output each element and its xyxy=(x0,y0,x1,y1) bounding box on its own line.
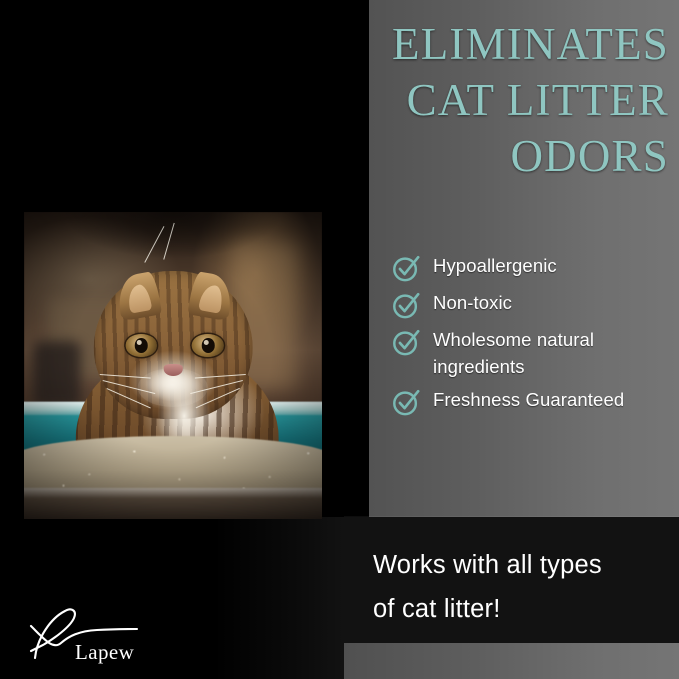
check-circle-icon xyxy=(391,387,421,417)
product-ad-image: ELIMINATES CAT LITTER ODORS Hypoallergen… xyxy=(0,0,679,679)
list-item-label: Hypoallergenic xyxy=(433,252,557,279)
headline-line-2: CAT LITTER xyxy=(249,72,669,128)
list-item: Wholesome natural ingredients xyxy=(391,326,673,380)
check-circle-icon xyxy=(391,290,421,320)
list-item-label: Wholesome natural ingredients xyxy=(433,326,673,380)
check-circle-icon xyxy=(391,253,421,283)
headline-line-1: ELIMINATES xyxy=(249,16,669,72)
list-item: Non-toxic xyxy=(391,289,673,320)
list-item-label: Freshness Guaranteed xyxy=(433,386,624,413)
kitten-photo xyxy=(24,212,322,519)
kitten-photo-stage xyxy=(24,212,322,519)
headline: ELIMINATES CAT LITTER ODORS xyxy=(249,16,669,184)
photo-vignette xyxy=(24,212,322,519)
callout-line-1: Works with all types xyxy=(373,543,663,587)
callout-text: Works with all types of cat litter! xyxy=(373,543,663,631)
headline-line-3: ODORS xyxy=(249,128,669,184)
callout-box: Works with all types of cat litter! xyxy=(344,517,679,643)
list-item: Freshness Guaranteed xyxy=(391,386,673,417)
callout-line-2: of cat litter! xyxy=(373,587,663,631)
brand-logo: Lapew xyxy=(27,604,159,666)
logo-wordmark: Lapew xyxy=(75,642,134,663)
benefits-list: Hypoallergenic Non-toxic Wholesome natur… xyxy=(391,252,673,423)
check-circle-icon xyxy=(391,327,421,357)
list-item-label: Non-toxic xyxy=(433,289,512,316)
list-item: Hypoallergenic xyxy=(391,252,673,283)
